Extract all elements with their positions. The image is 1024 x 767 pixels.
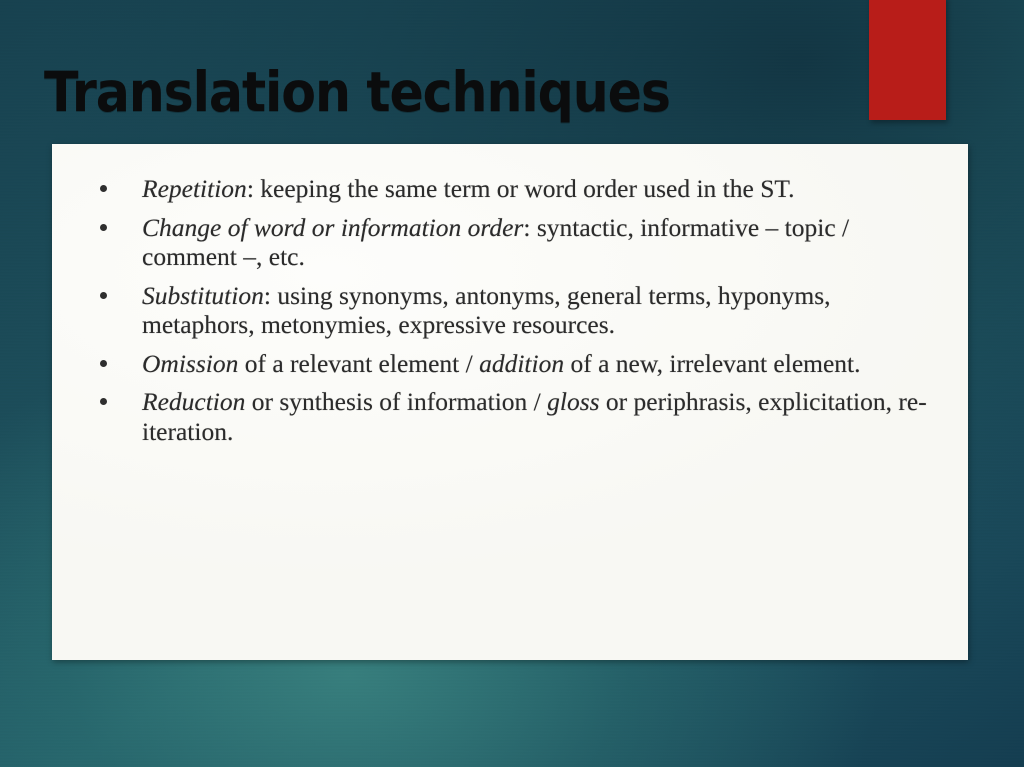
- bullet-dot-icon: [100, 224, 107, 231]
- list-item-term: Substitution: [142, 281, 264, 310]
- list-item-text: keeping the same term or word order used…: [260, 174, 794, 203]
- list-item-text-after: of a new, irrelevant element.: [564, 349, 860, 378]
- bullet-dot-icon: [100, 185, 107, 192]
- list-item: Omission of a relevant element / additio…: [92, 349, 946, 379]
- list-item: Reduction or synthesis of information / …: [92, 387, 946, 446]
- list-item-text: of a relevant element /: [245, 349, 479, 378]
- list-item-separator: :: [523, 213, 536, 242]
- content-card: Repetition: keeping the same term or wor…: [52, 144, 968, 660]
- list-item: Substitution: using synonyms, antonyms, …: [92, 281, 946, 340]
- bullet-dot-icon: [100, 398, 107, 405]
- presentation-slide: Translation techniques Repetition: keepi…: [0, 0, 1024, 767]
- list-item-text: or synthesis of information /: [252, 387, 547, 416]
- list-item-separator: :: [264, 281, 277, 310]
- list-item-term: Repetition: [142, 174, 247, 203]
- list-item-term: Omission: [142, 349, 238, 378]
- bullet-dot-icon: [100, 360, 107, 367]
- list-item-emphasis: gloss: [547, 387, 599, 416]
- list-item: Change of word or information order: syn…: [92, 213, 946, 272]
- list-item-term: Change of word or information order: [142, 213, 523, 242]
- bullet-dot-icon: [100, 292, 107, 299]
- list-item-emphasis: addition: [479, 349, 564, 378]
- translation-techniques-list: Repetition: keeping the same term or wor…: [52, 144, 968, 446]
- list-item: Repetition: keeping the same term or wor…: [92, 174, 946, 204]
- list-item-term: Reduction: [142, 387, 245, 416]
- list-item-separator: :: [247, 174, 260, 203]
- red-accent-bar: [869, 0, 946, 120]
- page-title: Translation techniques: [44, 62, 670, 122]
